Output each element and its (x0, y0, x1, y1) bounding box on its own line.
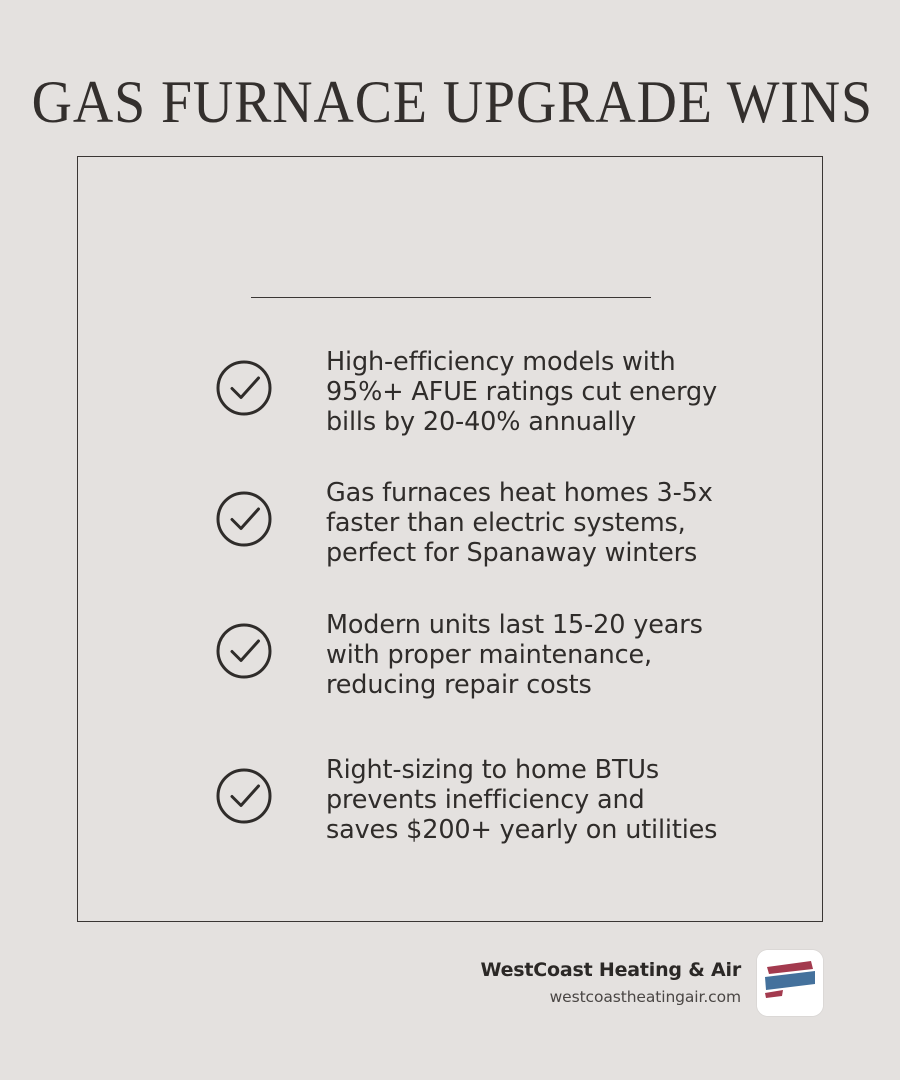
poster-canvas: GAS FURNACE UPGRADE WINS High-efficiency… (0, 0, 900, 1080)
check-circle-icon (215, 767, 273, 825)
page-title: GAS FURNACE UPGRADE WINS (32, 72, 873, 132)
westcoast-logo (757, 950, 823, 1016)
brand-footer: WestCoast Heating & Air westcoastheating… (480, 950, 823, 1016)
list-item: Right-sizing to home BTUs prevents ineff… (215, 767, 717, 845)
brand-url[interactable]: westcoastheatingair.com (480, 986, 741, 1008)
brand-name: WestCoast Heating & Air (480, 958, 741, 982)
title-container: GAS FURNACE UPGRADE WINS (0, 32, 900, 172)
content-card: High-efficiency models with 95%+ AFUE ra… (77, 156, 823, 922)
check-circle-icon (215, 490, 273, 548)
brand-text-group: WestCoast Heating & Air westcoastheating… (480, 958, 741, 1008)
list-item-text: Modern units last 15-20 years with prope… (326, 610, 703, 700)
list-item: Gas furnaces heat homes 3-5x faster than… (215, 490, 713, 568)
list-item: High-efficiency models with 95%+ AFUE ra… (215, 359, 717, 437)
benefits-list: High-efficiency models with 95%+ AFUE ra… (78, 157, 822, 921)
list-item-text: Right-sizing to home BTUs prevents ineff… (326, 755, 717, 845)
list-item: Modern units last 15-20 years with prope… (215, 622, 703, 700)
check-circle-icon (215, 622, 273, 680)
check-circle-icon (215, 359, 273, 417)
list-item-text: High-efficiency models with 95%+ AFUE ra… (326, 347, 717, 437)
list-item-text: Gas furnaces heat homes 3-5x faster than… (326, 478, 713, 568)
